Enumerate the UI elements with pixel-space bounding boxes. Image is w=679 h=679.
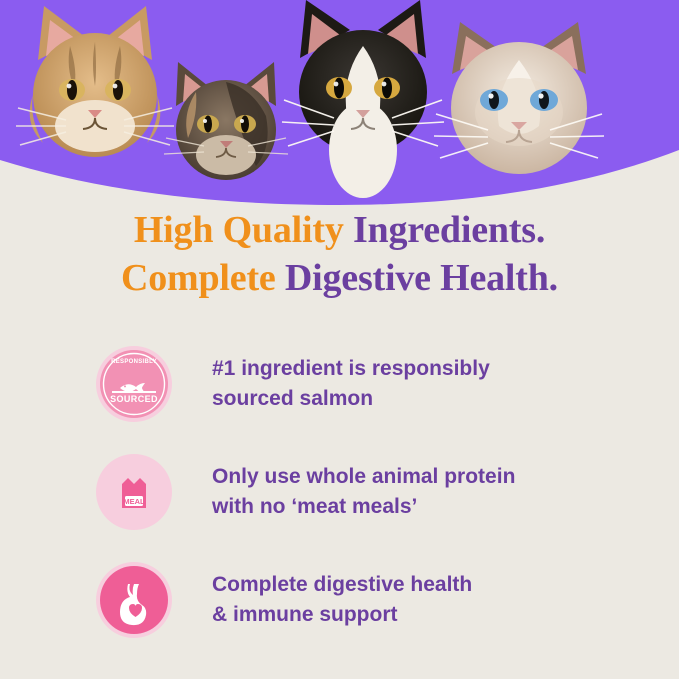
cat-banner xyxy=(0,0,679,205)
product-feature-panel: High Quality Ingredients. Complete Diges… xyxy=(0,0,679,679)
badge-top-text: RESPONSIBLY xyxy=(98,359,170,365)
stomach-heart-glyph xyxy=(98,564,170,636)
feature-list: RESPONSIBLY SOURCED #1 ingredient is res… xyxy=(0,330,679,654)
feature-line-2: & immune support xyxy=(212,600,472,630)
headline: High Quality Ingredients. Complete Diges… xyxy=(0,206,679,302)
stomach-heart-icon xyxy=(96,562,172,638)
feature-text-sourced: #1 ingredient is responsibly sourced sal… xyxy=(212,354,490,414)
feature-text-digestive: Complete digestive health & immune suppo… xyxy=(212,570,472,630)
feature-row-sourced: RESPONSIBLY SOURCED #1 ingredient is res… xyxy=(0,330,679,438)
headline-line-1: High Quality Ingredients. xyxy=(0,206,679,254)
meal-bag-glyph: MEAL xyxy=(98,456,170,528)
feature-text-meal: Only use whole animal protein with no ‘m… xyxy=(212,462,515,522)
meal-bag-icon: MEAL xyxy=(96,454,172,530)
ragdoll-cat xyxy=(434,22,604,174)
feature-row-meal: MEAL Only use whole animal protein with … xyxy=(0,438,679,546)
headline-line-1-orange: High Quality xyxy=(134,209,353,251)
badge-divider xyxy=(112,391,156,393)
feature-row-digestive: Complete digestive health & immune suppo… xyxy=(0,546,679,654)
svg-text:MEAL: MEAL xyxy=(123,497,145,506)
badge-ring: RESPONSIBLY SOURCED xyxy=(98,348,170,420)
badge-word-text: SOURCED xyxy=(98,394,170,404)
feature-line-1: #1 ingredient is responsibly xyxy=(212,357,490,380)
feature-line-1: Complete digestive health xyxy=(212,573,472,596)
feature-line-2: with no ‘meat meals’ xyxy=(212,492,515,522)
feature-line-1: Only use whole animal protein xyxy=(212,465,515,488)
responsibly-sourced-badge-icon: RESPONSIBLY SOURCED xyxy=(96,346,172,422)
cat-banner-image xyxy=(0,0,679,205)
headline-line-2: Complete Digestive Health. xyxy=(0,254,679,302)
headline-line-1-purple: Ingredients. xyxy=(353,209,545,251)
headline-line-2-orange: Complete xyxy=(121,257,285,299)
headline-line-2-purple: Digestive Health. xyxy=(285,257,558,299)
feature-line-2: sourced salmon xyxy=(212,384,490,414)
